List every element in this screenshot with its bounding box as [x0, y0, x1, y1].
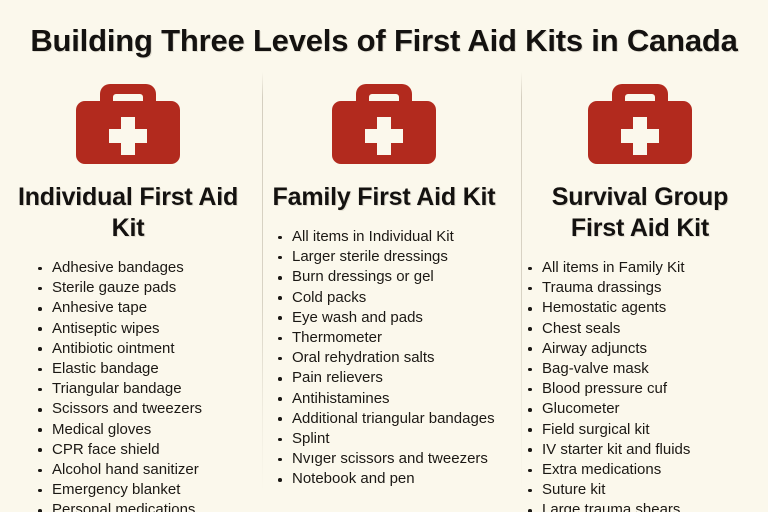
list-item: Trauma drassings [526, 278, 768, 298]
list-item: Emergency blanket [36, 480, 256, 500]
list-item: CPR face shield [36, 440, 256, 460]
list-item: Airway adjuncts [526, 339, 768, 359]
list-item: Blood pressure cuf [526, 379, 768, 399]
list-item: Elastic bandage [36, 359, 256, 379]
list-item: Oral rehydration salts [276, 348, 512, 368]
first-aid-kit-icon [330, 80, 438, 166]
list-item: Eye wash and pads [276, 308, 512, 328]
list-item: Pain relievers [276, 368, 512, 388]
item-list-survival-group-kit: All items in Family Kit Trauma drassings… [512, 258, 768, 512]
list-item: All items in Individual Kit [276, 227, 512, 247]
list-item: Chest seals [526, 319, 768, 339]
list-item: Larger sterile dressings [276, 247, 512, 267]
list-item: Adhesive bandages [36, 258, 256, 278]
item-list-individual-kit: Adhesive bandages Sterile gauze pads Anh… [0, 258, 256, 512]
list-item: Extra medications [526, 460, 768, 480]
page-title: Building Three Levels of First Aid Kits … [0, 22, 768, 60]
column-family-kit: Family First Aid Kit All items in Indivi… [256, 80, 512, 490]
list-item: Antibiotic ointment [36, 339, 256, 359]
list-item: Nvıger scissors and tweezers [276, 449, 512, 469]
item-list-family-kit: All items in Individual Kit Larger steri… [256, 227, 512, 490]
list-item: Notebook and pen [276, 469, 512, 489]
list-item: Hemostatic agents [526, 298, 768, 318]
list-item: Triangular bandage [36, 379, 256, 399]
list-item: Additional triangular bandages [276, 409, 512, 429]
column-heading: Survival Group First Aid Kit [516, 182, 764, 244]
column-heading: Family First Aid Kit [267, 182, 502, 213]
list-item: Field surgical kit [526, 420, 768, 440]
list-item: Splint [276, 429, 512, 449]
list-item: Cold packs [276, 288, 512, 308]
list-item: IV starter kit and fluids [526, 440, 768, 460]
list-item: Antiseptic wipes [36, 319, 256, 339]
list-item: Scissors and tweezers [36, 399, 256, 419]
list-item: Medical gloves [36, 420, 256, 440]
list-item: Thermometer [276, 328, 512, 348]
list-item: Personal medications [36, 500, 256, 512]
list-item: Alcohol hand sanitizer [36, 460, 256, 480]
first-aid-kit-poster: Building Three Levels of First Aid Kits … [0, 0, 768, 512]
column-individual-kit: Individual First Aid Kit Adhesive bandag… [0, 80, 256, 512]
list-item: Large trauma shears [526, 500, 768, 512]
first-aid-kit-icon [586, 80, 694, 166]
list-item: Bag-valve mask [526, 359, 768, 379]
column-survival-group-kit: Survival Group First Aid Kit All items i… [512, 80, 768, 512]
first-aid-kit-icon [74, 80, 182, 166]
list-item: Anhesive tape [36, 298, 256, 318]
columns-container: Individual First Aid Kit Adhesive bandag… [0, 80, 768, 512]
list-item: Sterile gauze pads [36, 278, 256, 298]
column-heading: Individual First Aid Kit [4, 182, 252, 244]
list-item: Burn dressings or gel [276, 267, 512, 287]
list-item: Suture kit [526, 480, 768, 500]
list-item: Glucometer [526, 399, 768, 419]
list-item: All items in Family Kit [526, 258, 768, 278]
list-item: Antihistamines [276, 389, 512, 409]
